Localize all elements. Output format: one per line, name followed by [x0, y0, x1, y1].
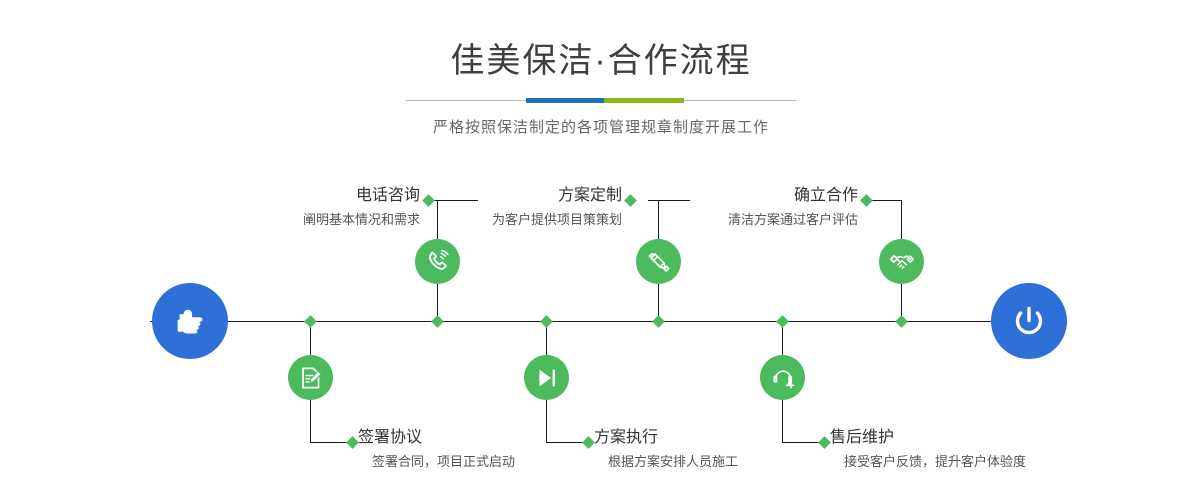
step-6-icon-badge[interactable]: [760, 355, 805, 400]
cooperation-flow-page: 佳美保洁·合作流程 严格按照保洁制定的各项管理规章制度开展工作: [0, 0, 1202, 502]
step-3-desc: 为客户提供项目策策划: [402, 210, 622, 230]
step-3-label: 方案定制 为客户提供项目策策划: [402, 186, 622, 230]
step-3-title: 方案定制: [402, 186, 622, 206]
step-1-axis-marker: [431, 315, 444, 328]
step-3-label-marker: [624, 194, 637, 207]
step-2-desc: 签署合同，项目正式启动: [358, 452, 608, 472]
step-3-icon-badge[interactable]: [636, 239, 681, 284]
step-4-icon-badge[interactable]: [524, 355, 569, 400]
document-edit-icon: [298, 365, 324, 391]
handshake-icon: [889, 249, 915, 275]
step-6-axis-marker: [776, 315, 789, 328]
step-1-label: 电话咨询 阐明基本情况和需求: [188, 186, 420, 230]
step-2-axis-marker: [304, 315, 317, 328]
step-2-label-marker: [346, 436, 359, 449]
flow-start-node[interactable]: [152, 283, 228, 359]
customer-support-icon: [770, 365, 796, 391]
step-5-icon-badge[interactable]: [879, 239, 924, 284]
step-5-label: 确立合作 清洁方案通过客户评估: [640, 186, 858, 230]
pointing-hand-icon: [170, 301, 210, 341]
step-2-label: 签署协议 签署合同，项目正式启动: [358, 428, 608, 472]
step-4-title: 方案执行: [594, 428, 834, 448]
step-1-icon-badge[interactable]: [415, 239, 460, 284]
play-execute-icon: [534, 365, 560, 391]
phone-call-icon: [425, 249, 451, 275]
flow-diagram: 电话咨询 阐明基本情况和需求 签署协议 签署合同，项目正式启动: [0, 0, 1202, 502]
pencil-design-icon: [646, 249, 672, 275]
step-5-axis-marker: [895, 315, 908, 328]
step-4-axis-marker: [540, 315, 553, 328]
step-4-label: 方案执行 根据方案安排人员施工: [594, 428, 834, 472]
step-5-title: 确立合作: [640, 186, 858, 206]
step-1-title: 电话咨询: [188, 186, 420, 206]
step-2-title: 签署协议: [358, 428, 608, 448]
step-6-label: 售后维护 接受客户反馈，提升客户体验度: [830, 428, 1090, 472]
step-5-label-marker: [860, 194, 873, 207]
timeline-axis: [150, 321, 1050, 322]
step-1-desc: 阐明基本情况和需求: [188, 210, 420, 230]
step-5-desc: 清洁方案通过客户评估: [640, 210, 858, 230]
step-6-desc: 接受客户反馈，提升客户体验度: [830, 452, 1090, 472]
step-6-title: 售后维护: [830, 428, 1090, 448]
power-icon: [1008, 300, 1050, 342]
step-2-icon-badge[interactable]: [288, 355, 333, 400]
step-4-desc: 根据方案安排人员施工: [594, 452, 834, 472]
step-3-axis-marker: [652, 315, 665, 328]
flow-end-node[interactable]: [991, 283, 1067, 359]
